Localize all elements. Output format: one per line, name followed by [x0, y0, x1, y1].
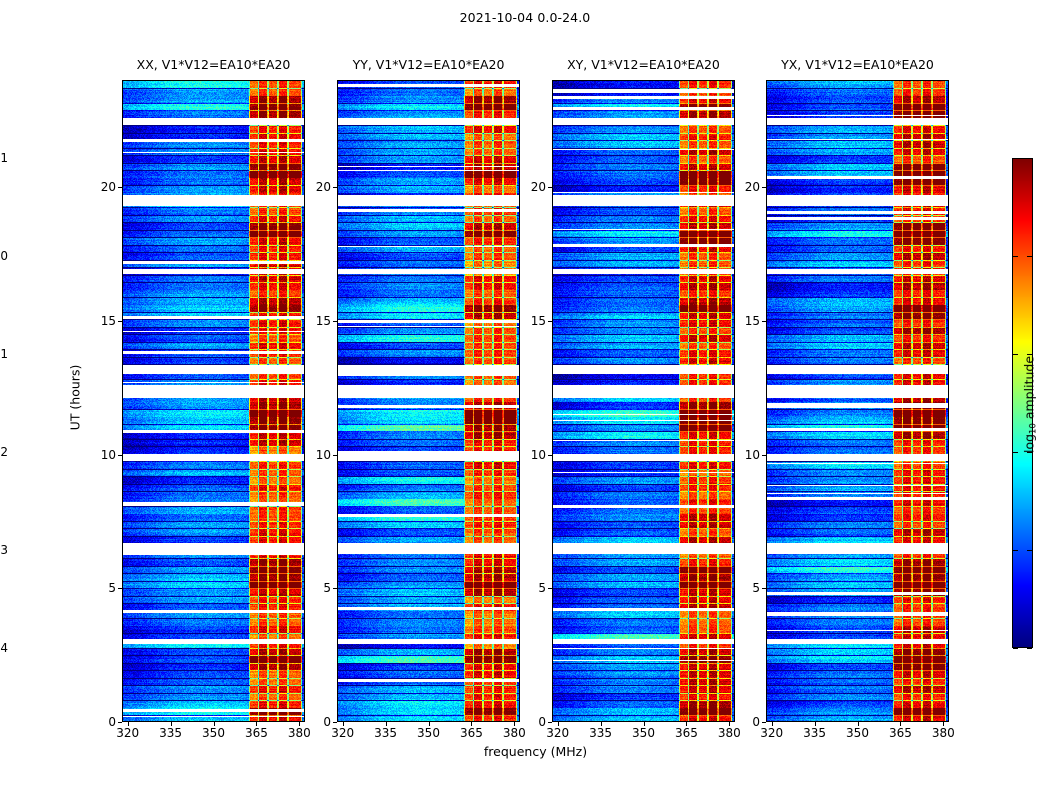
colorbar-tick-mark [1013, 550, 1018, 551]
y-tick-mark [762, 722, 766, 723]
axes-xy[interactable] [552, 80, 735, 722]
colorbar-tick-mark [1013, 354, 1018, 355]
y-tick-label: 10 [518, 448, 546, 462]
x-tick-label: 320 [116, 726, 139, 740]
x-tick-label: 350 [632, 726, 655, 740]
y-tick-mark [118, 588, 122, 589]
x-tick-label: 350 [846, 726, 869, 740]
panel-yy[interactable]: YY, V1*V12=EA10*EA20 [337, 80, 520, 722]
colorbar-label: log10 amplitude [1021, 285, 1038, 525]
y-tick-mark [762, 588, 766, 589]
y-tick-mark [548, 588, 552, 589]
y-tick-mark [548, 722, 552, 723]
panel-title-yy: YY, V1*V12=EA10*EA20 [337, 57, 520, 72]
colorbar-tick-label: −4 [0, 641, 8, 655]
y-tick-mark [762, 455, 766, 456]
y-tick-label: 20 [303, 180, 331, 194]
colorbar-label-suffix: amplitude [1021, 356, 1036, 423]
colorbar-tick-label: 0 [0, 249, 8, 263]
x-axis-label: frequency (MHz) [122, 744, 949, 759]
x-tick-label: 335 [589, 726, 612, 740]
colorbar-label-prefix: log [1021, 434, 1036, 453]
colorbar-tick-mark [1027, 550, 1032, 551]
y-tick-mark [333, 455, 337, 456]
y-tick-label: 10 [303, 448, 331, 462]
y-tick-mark [548, 187, 552, 188]
x-tick-label: 320 [546, 726, 569, 740]
x-tick-label: 350 [417, 726, 440, 740]
y-axis-label: UT (hours) [68, 318, 83, 478]
x-tick-label: 365 [245, 726, 268, 740]
colorbar-tick-mark [1027, 648, 1032, 649]
colorbar-tick-mark [1027, 256, 1032, 257]
y-tick-mark [548, 455, 552, 456]
y-tick-label: 20 [88, 180, 116, 194]
y-tick-mark [118, 187, 122, 188]
y-tick-label: 5 [518, 581, 546, 595]
x-tick-label: 350 [202, 726, 225, 740]
x-tick-label: 380 [932, 726, 955, 740]
x-tick-label: 320 [760, 726, 783, 740]
colorbar-tick-mark [1013, 452, 1018, 453]
y-tick-label: 5 [88, 581, 116, 595]
y-tick-mark [118, 321, 122, 322]
panel-xx[interactable]: XX, V1*V12=EA10*EA20 [122, 80, 305, 722]
panel-title-xx: XX, V1*V12=EA10*EA20 [122, 57, 305, 72]
axes-yy[interactable] [337, 80, 520, 722]
panel-title-xy: XY, V1*V12=EA10*EA20 [552, 57, 735, 72]
y-tick-label: 0 [518, 715, 546, 729]
colorbar-tick-mark [1013, 256, 1018, 257]
y-tick-mark [333, 722, 337, 723]
y-tick-label: 5 [732, 581, 760, 595]
colorbar-tick-label: −3 [0, 543, 8, 557]
colorbar-tick-mark [1027, 158, 1032, 159]
x-tick-label: 320 [331, 726, 354, 740]
colorbar-label-subscript: 10 [1029, 423, 1039, 434]
x-tick-label: 335 [374, 726, 397, 740]
y-tick-label: 0 [88, 715, 116, 729]
x-tick-label: 335 [803, 726, 826, 740]
y-tick-mark [333, 588, 337, 589]
panel-xy[interactable]: XY, V1*V12=EA10*EA20 [552, 80, 735, 722]
y-tick-label: 15 [518, 314, 546, 328]
y-tick-mark [118, 722, 122, 723]
y-tick-label: 10 [88, 448, 116, 462]
y-tick-label: 15 [303, 314, 331, 328]
x-tick-label: 365 [460, 726, 483, 740]
y-tick-label: 20 [732, 180, 760, 194]
colorbar-tick-mark [1013, 648, 1018, 649]
y-tick-label: 0 [732, 715, 760, 729]
axes-yx[interactable] [766, 80, 949, 722]
y-tick-mark [548, 321, 552, 322]
y-tick-label: 5 [303, 581, 331, 595]
colorbar-tick-label: 1 [0, 151, 8, 165]
y-tick-mark [333, 321, 337, 322]
x-tick-label: 365 [889, 726, 912, 740]
colorbar-tick-label: −1 [0, 347, 8, 361]
y-tick-mark [118, 455, 122, 456]
x-tick-label: 335 [159, 726, 182, 740]
colorbar-tick-mark [1013, 158, 1018, 159]
colorbar-tick-label: −2 [0, 445, 8, 459]
figure-canvas: 2021-10-04 0.0-24.0 XX, V1*V12=EA10*EA20… [0, 0, 1050, 800]
y-tick-label: 15 [88, 314, 116, 328]
y-tick-mark [762, 187, 766, 188]
panel-title-yx: YX, V1*V12=EA10*EA20 [766, 57, 949, 72]
y-tick-mark [333, 187, 337, 188]
figure-suptitle: 2021-10-04 0.0-24.0 [0, 10, 1050, 25]
x-tick-label: 365 [675, 726, 698, 740]
y-tick-label: 20 [518, 180, 546, 194]
panel-yx[interactable]: YX, V1*V12=EA10*EA20 [766, 80, 949, 722]
y-tick-mark [762, 321, 766, 322]
y-tick-label: 0 [303, 715, 331, 729]
y-tick-label: 15 [732, 314, 760, 328]
y-tick-label: 10 [732, 448, 760, 462]
axes-xx[interactable] [122, 80, 305, 722]
